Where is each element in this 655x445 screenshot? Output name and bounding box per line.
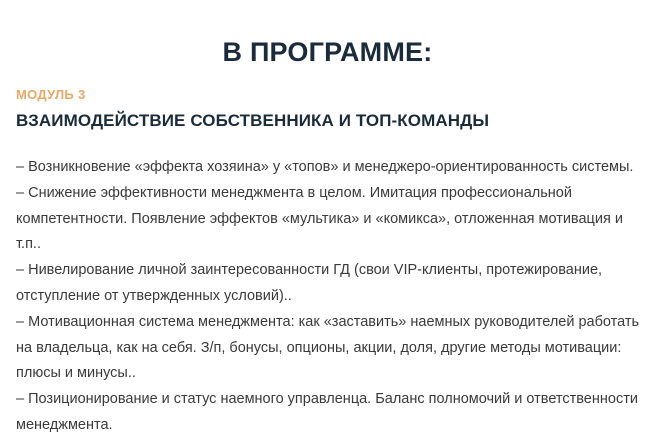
list-item: – Нивелирование личной заинтересованност… xyxy=(16,258,641,310)
list-item: – Возникновение «эффекта хозяина» у «топ… xyxy=(16,155,641,181)
list-item: – Мотивационная система менеджмента: как… xyxy=(16,310,641,387)
program-page: В ПРОГРАММЕ: МОДУЛЬ 3 ВЗАИМОДЕЙСТВИЕ СОБ… xyxy=(0,0,655,445)
module-block: МОДУЛЬ 3 ВЗАИМОДЕЙСТВИЕ СОБСТВЕННИКА И Т… xyxy=(16,86,641,132)
list-item: – Позиционирование и статус наемного упр… xyxy=(16,387,641,439)
module-kicker-label: МОДУЛЬ 3 xyxy=(16,86,641,103)
module-heading: ВЗАИМОДЕЙСТВИЕ СОБСТВЕННИКА И ТОП-КОМАНД… xyxy=(16,110,641,132)
program-points-list: – Возникновение «эффекта хозяина» у «топ… xyxy=(16,155,641,439)
list-item: – Снижение эффективности менеджмента в ц… xyxy=(16,181,641,258)
page-title: В ПРОГРАММЕ: xyxy=(0,35,655,69)
